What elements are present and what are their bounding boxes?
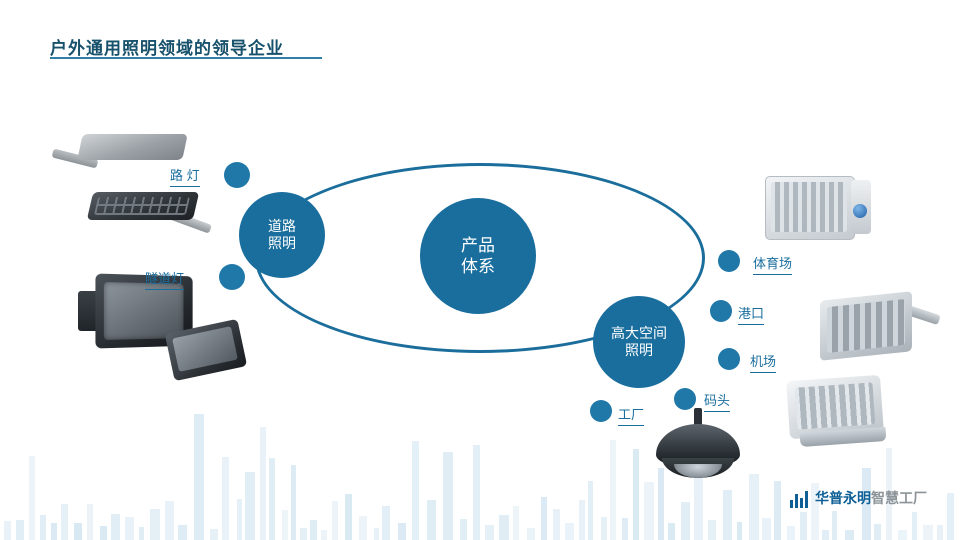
- decorative-bar: [737, 522, 742, 540]
- decorative-bar: [898, 530, 907, 540]
- decorative-bar: [473, 445, 480, 540]
- logo-mark-icon: [790, 490, 810, 508]
- decorative-bar: [150, 509, 160, 540]
- label-stadium[interactable]: 体育场: [753, 253, 792, 275]
- decorative-bar: [579, 500, 585, 540]
- decorative-bar: [412, 441, 419, 540]
- decorative-bar: [565, 523, 574, 540]
- lamp-head: [77, 134, 188, 160]
- label-factory[interactable]: 工厂: [618, 404, 644, 426]
- decorative-bar: [111, 514, 120, 540]
- decorative-bar: [800, 512, 807, 540]
- decorative-bar: [668, 523, 675, 540]
- decorative-bar: [321, 530, 327, 540]
- decorative-bar: [210, 529, 218, 540]
- node-road-line2: 照明: [268, 235, 296, 253]
- slide-root: 户外通用照明领域的领导企业: [0, 0, 960, 540]
- street-lamp-image-2: [82, 190, 212, 252]
- decorative-bar: [610, 440, 616, 540]
- label-port[interactable]: 港口: [738, 303, 764, 325]
- decorative-bar: [499, 515, 509, 540]
- decorative-bar: [260, 427, 266, 540]
- flood-lamp-image-1: [765, 170, 875, 248]
- label-street-lamp[interactable]: 路 灯: [170, 165, 200, 187]
- decorative-bar: [74, 523, 82, 540]
- decorative-bar: [40, 515, 46, 540]
- decorative-bar: [723, 490, 732, 540]
- bullet-dot-wharf: [674, 388, 696, 410]
- label-wharf[interactable]: 码头: [704, 390, 730, 412]
- decorative-bar: [87, 504, 93, 540]
- decorative-bar: [100, 526, 107, 540]
- label-tunnel-lamp[interactable]: 隧道灯: [145, 268, 184, 290]
- bullet-dot-street-lamp: [224, 162, 250, 188]
- decorative-bar: [681, 502, 690, 540]
- decorative-bar: [601, 517, 607, 540]
- page-title-group: 户外通用照明领域的领导企业: [50, 34, 284, 59]
- decorative-bar: [708, 520, 716, 540]
- decorative-bar: [382, 506, 390, 540]
- decorative-bar: [237, 499, 242, 540]
- center-node-line1: 产品: [461, 235, 495, 256]
- decorative-bar: [588, 481, 593, 540]
- decorative-bar: [832, 511, 837, 540]
- lamp-led-grid: [795, 382, 876, 429]
- decorative-bar: [937, 525, 943, 540]
- lamp-led-grid: [827, 299, 905, 353]
- center-node-product-system[interactable]: 产品 体系: [420, 198, 536, 314]
- decorative-bar: [29, 456, 35, 540]
- decorative-bar: [165, 501, 174, 540]
- decorative-bar: [633, 449, 639, 540]
- highbay-lamp-image: [650, 408, 746, 492]
- decorative-bar: [125, 517, 134, 540]
- decorative-bar: [4, 521, 11, 540]
- title-underline: [50, 57, 322, 59]
- bullet-dot-airport: [718, 348, 740, 370]
- bullet-dot-factory: [590, 400, 612, 422]
- bullet-dot-port: [710, 300, 732, 322]
- decorative-bar: [282, 510, 288, 540]
- node-high-space-lighting[interactable]: 高大空间 照明: [593, 296, 685, 388]
- decorative-bar: [332, 501, 338, 540]
- decorative-bar: [300, 528, 307, 540]
- logo-suffix: 智慧工厂: [871, 490, 927, 506]
- node-road-line1: 道路: [268, 218, 296, 236]
- decorative-bar: [541, 497, 547, 540]
- decorative-bar: [762, 518, 771, 540]
- decorative-bar: [787, 526, 795, 540]
- decorative-bar: [310, 520, 317, 540]
- decorative-bar: [374, 528, 379, 540]
- decorative-bar: [912, 512, 917, 540]
- decorative-bar: [345, 494, 352, 540]
- decorative-bar: [178, 525, 187, 540]
- logo-brand: 华普永明: [815, 490, 871, 506]
- node-high-line2: 照明: [611, 342, 667, 360]
- decorative-bar: [398, 523, 406, 540]
- decorative-bar: [774, 481, 781, 540]
- decorative-bar: [527, 528, 535, 540]
- company-logo: 华普永明智慧工厂: [790, 488, 927, 508]
- flood-lamp-image-3: [784, 378, 904, 450]
- decorative-bar: [553, 509, 560, 540]
- decorative-bar: [749, 474, 759, 540]
- decorative-bar: [16, 520, 24, 540]
- bullet-dot-tunnel-lamp: [219, 264, 245, 290]
- bullet-dot-stadium: [718, 250, 740, 272]
- decorative-bar: [291, 465, 296, 540]
- decorative-bar: [443, 452, 453, 540]
- decorative-bar: [822, 530, 829, 540]
- flood-lamp-image-2: [820, 288, 940, 370]
- decorative-bar: [923, 525, 933, 540]
- decorative-bar: [359, 516, 367, 540]
- decorative-bar: [61, 504, 68, 540]
- center-node-line2: 体系: [461, 256, 495, 277]
- node-high-line1: 高大空间: [611, 325, 667, 343]
- decorative-bar: [269, 458, 275, 540]
- label-airport[interactable]: 机场: [750, 351, 776, 373]
- decorative-bar: [845, 530, 854, 540]
- decorative-bar: [222, 457, 229, 540]
- lamp-led-grid: [771, 182, 847, 232]
- decorative-bar: [427, 500, 436, 540]
- decorative-bar: [245, 472, 255, 540]
- lamp-led-grid: [94, 197, 190, 215]
- decorative-bar: [622, 518, 628, 540]
- decorative-bar: [513, 506, 519, 540]
- decorative-bar: [460, 519, 467, 540]
- decorative-bar: [51, 523, 57, 540]
- decorative-bar: [194, 414, 204, 540]
- tunnel-lamp-image-2: [163, 322, 249, 380]
- page-title: 户外通用照明领域的领导企业: [50, 34, 284, 59]
- decorative-bar: [947, 493, 954, 540]
- node-road-lighting[interactable]: 道路 照明: [239, 192, 325, 278]
- decorative-bar: [139, 527, 144, 540]
- logo-text: 华普永明智慧工厂: [815, 488, 927, 508]
- decorative-bar: [485, 525, 494, 540]
- lamp-blue-indicator: [853, 204, 867, 218]
- decorative-bar: [874, 524, 881, 540]
- street-lamp-image-1: [50, 128, 185, 188]
